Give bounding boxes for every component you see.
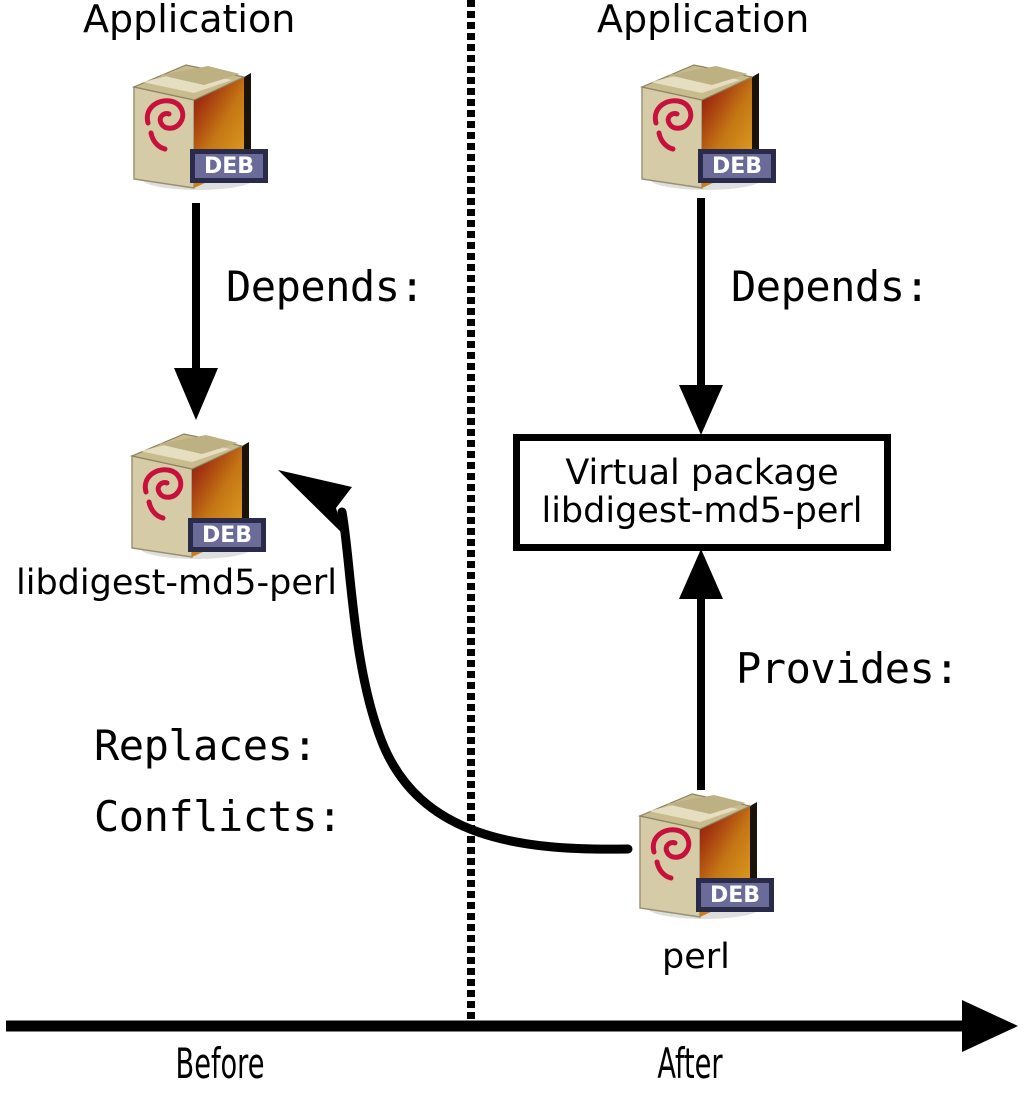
deb-package-icon: DEB (120, 53, 272, 195)
deb-badge: DEB (188, 518, 266, 552)
before-heading: Application (83, 0, 295, 38)
provides-label: Provides: (736, 648, 959, 690)
timeline-label-after: After (632, 1043, 747, 1085)
package-label-libdigest-md5-perl: libdigest-md5-perl (16, 566, 337, 601)
deb-package-icon: DEB (626, 782, 778, 924)
depends-label-before: Depends: (226, 266, 424, 308)
virtual-package-box: Virtual package libdigest-md5-perl (513, 434, 891, 551)
svg-text:DEB: DEB (204, 154, 254, 179)
svg-text:DEB: DEB (712, 154, 762, 179)
virtual-package-line1: Virtual package (565, 455, 838, 493)
deb-badge: DEB (696, 878, 774, 912)
after-heading: Application (597, 0, 809, 38)
arrow-depends-before (174, 203, 218, 420)
virtual-package-line2: libdigest-md5-perl (541, 493, 862, 531)
package-label-perl: perl (662, 940, 730, 975)
before-after-divider (467, 0, 475, 1032)
svg-text:DEB: DEB (710, 883, 760, 908)
conflicts-label: Conflicts: (94, 796, 342, 838)
timeline-axis (6, 1000, 1018, 1052)
arrow-provides (679, 549, 723, 790)
depends-label-after: Depends: (731, 266, 929, 308)
deb-badge: DEB (698, 149, 776, 183)
timeline-label-before: Before (162, 1043, 277, 1085)
replaces-label: Replaces: (94, 725, 317, 767)
deb-package-icon: DEB (628, 53, 780, 195)
svg-text:DEB: DEB (202, 523, 252, 548)
diagram-canvas: Application DEB Depends: (0, 0, 1024, 1094)
deb-badge: DEB (190, 149, 268, 183)
arrow-depends-after (679, 198, 723, 435)
deb-package-icon: DEB (118, 422, 270, 564)
